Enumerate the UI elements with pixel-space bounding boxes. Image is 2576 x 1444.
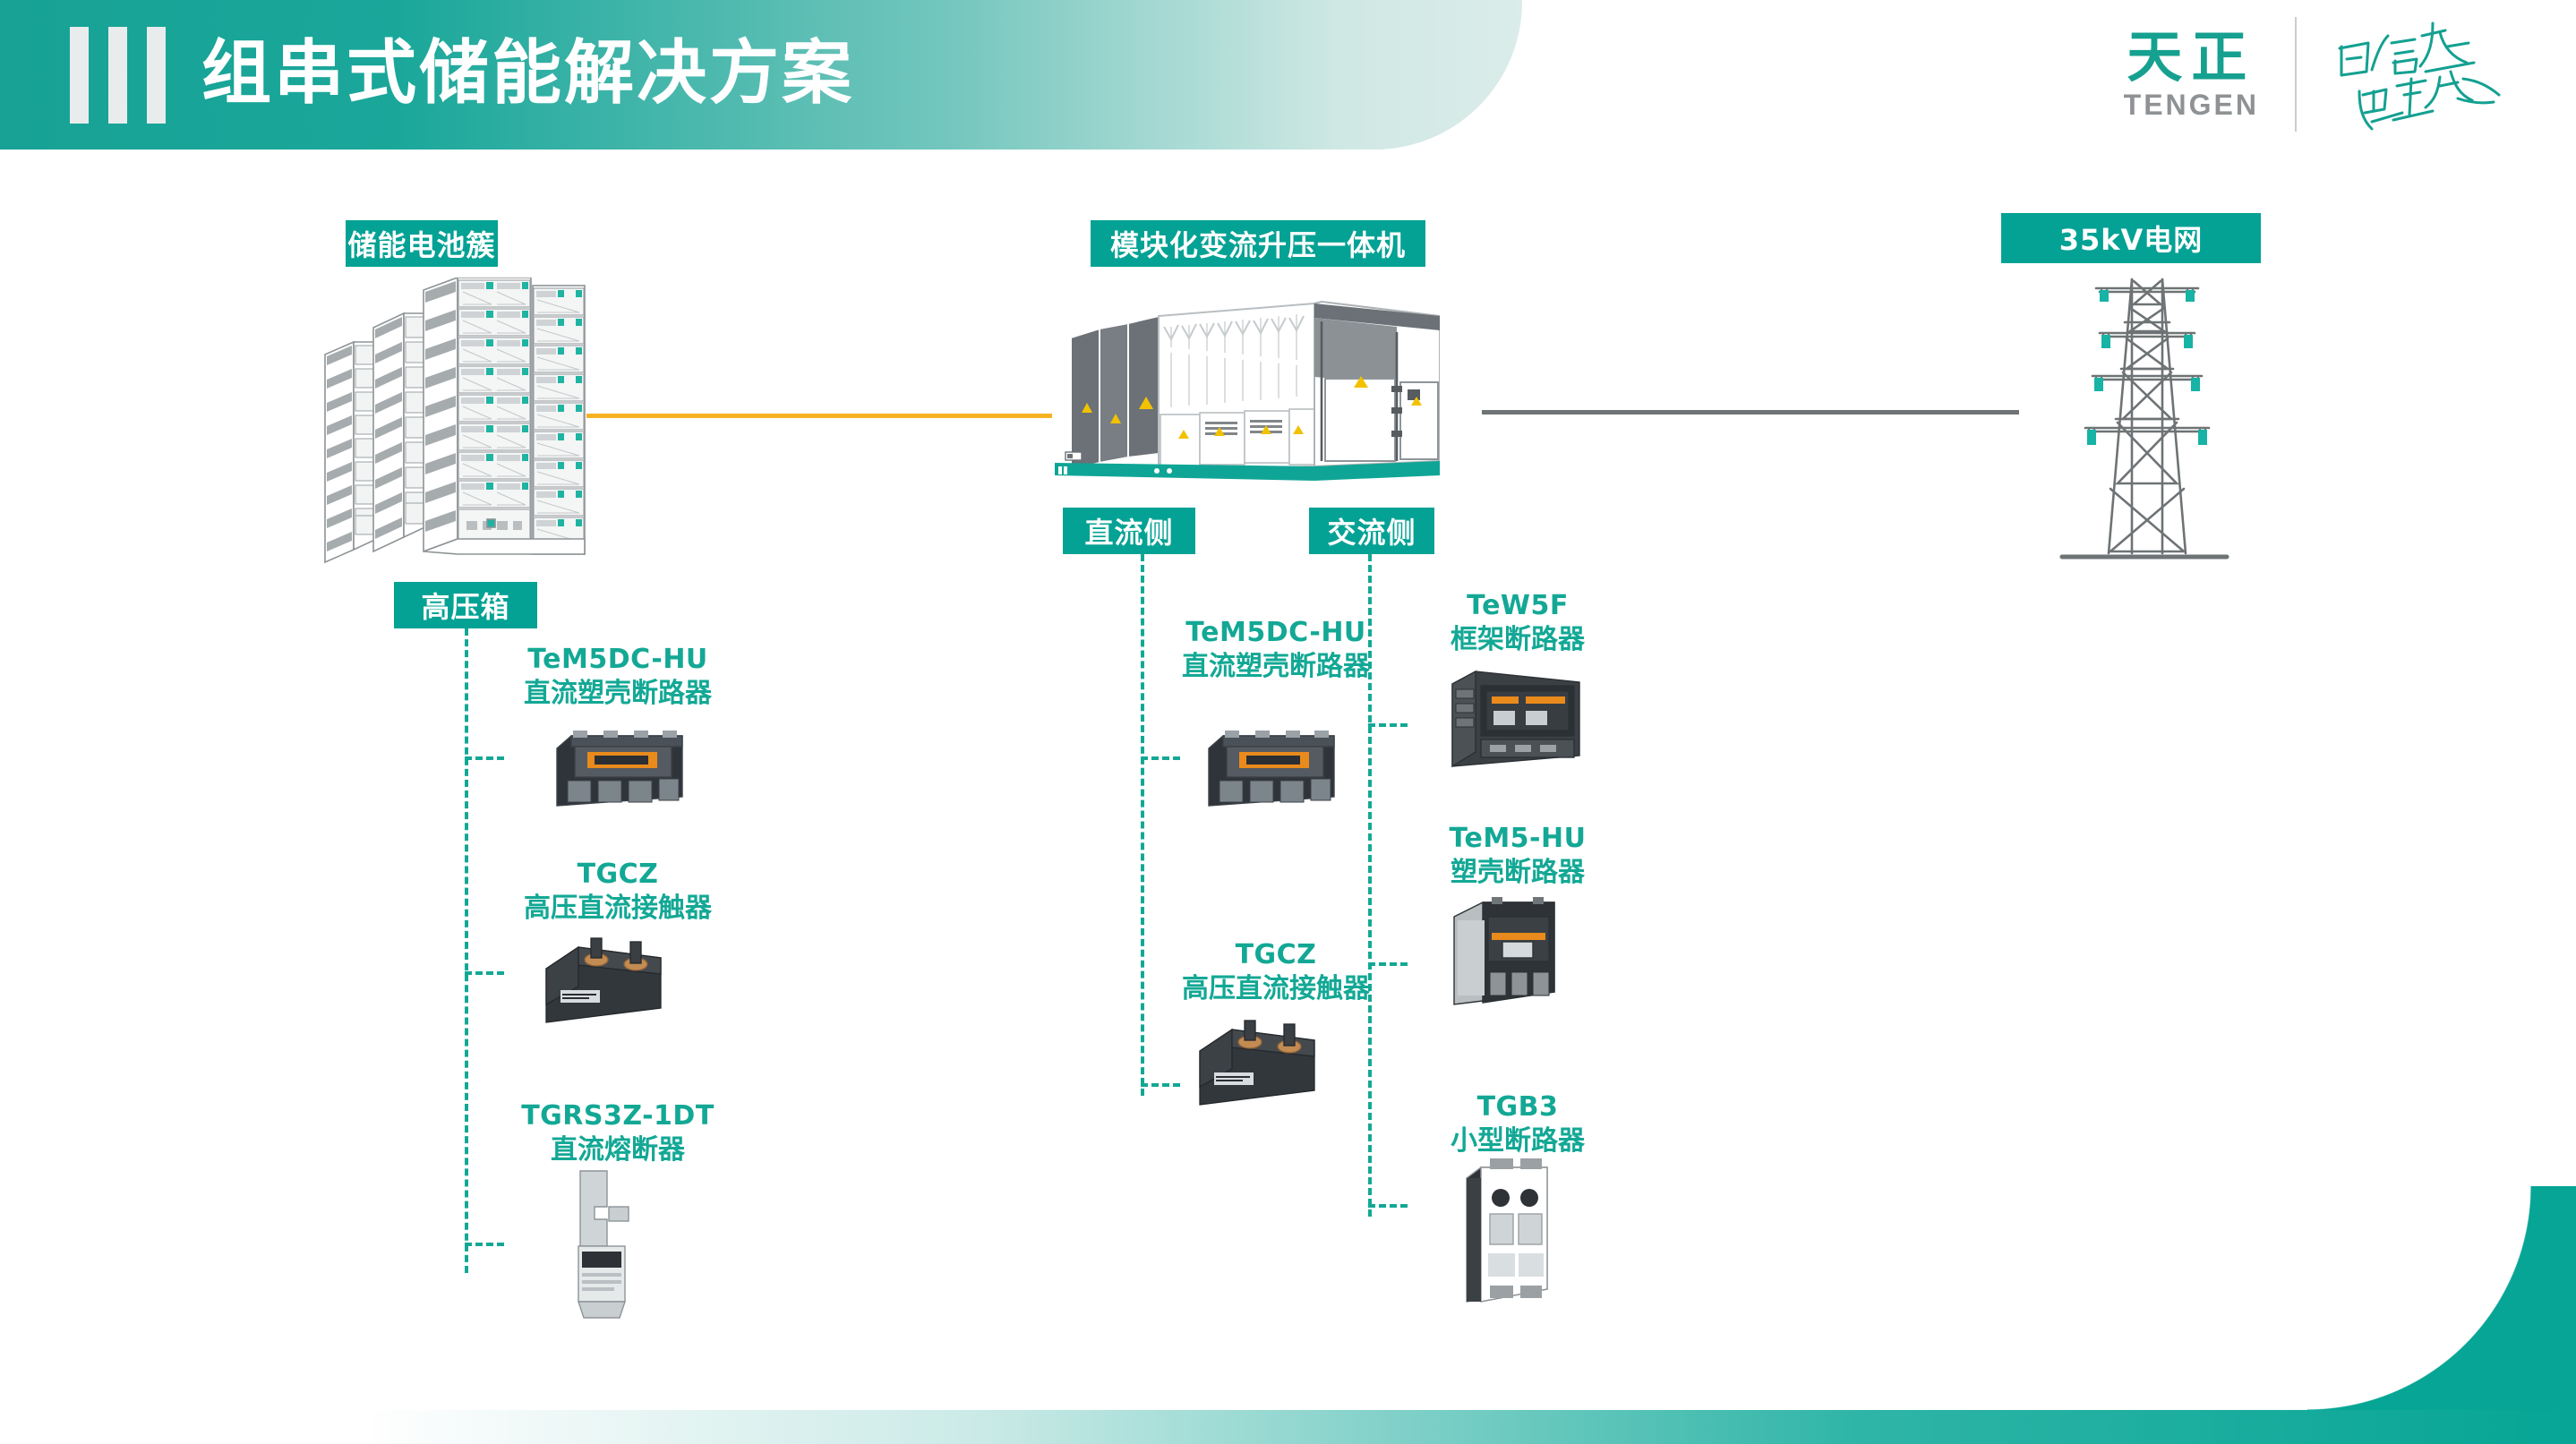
- connector-battery-item-1: [465, 756, 504, 760]
- svg-text:TG: TG: [1219, 354, 1226, 359]
- product-desc: 直流塑壳断路器: [1146, 650, 1406, 684]
- brand-slogan-calligraphy: [2332, 16, 2520, 132]
- chip-dc-side-label: 直流侧: [1084, 510, 1173, 551]
- svg-text:TG: TG: [1201, 352, 1208, 357]
- chip-pcs-label: 模块化变流升压一体机: [1110, 223, 1406, 264]
- connector-ac-item-2: [1368, 962, 1408, 966]
- connector-dc-trunk: [1141, 554, 1144, 1096]
- product-image-miniature-circuit-breaker: [1449, 1155, 1565, 1320]
- product-desc: 塑壳断路器: [1406, 856, 1630, 890]
- product-image-dc-fuse-1: [555, 1164, 654, 1329]
- three-bars-icon: [70, 27, 166, 124]
- svg-text:TG: TG: [1237, 355, 1244, 361]
- product-desc: 高压直流接触器: [1146, 972, 1406, 1006]
- product-model: TGB3: [1406, 1090, 1630, 1124]
- chip-grid: 35kV电网: [2001, 213, 2261, 263]
- brand-divider: [2295, 17, 2297, 132]
- battery-cluster-image: [318, 278, 595, 577]
- svg-text:TG: TG: [1290, 361, 1297, 366]
- connector-battery-item-3: [465, 1243, 504, 1246]
- product-model: TeM5DC-HU: [501, 643, 734, 677]
- chip-hv-box: 高压箱: [394, 582, 537, 628]
- connector-ac-trunk: [1368, 554, 1372, 1217]
- product-caption-dc-1: TeM5DC-HU 直流塑壳断路器: [1146, 616, 1406, 683]
- product-caption-ac-1: TeW5F 框架断路器: [1406, 589, 1630, 656]
- product-image-molded-case-circuit-breaker-dc-2: [1200, 716, 1343, 819]
- product-model: TGCZ: [501, 858, 734, 892]
- transmission-tower-image: [2010, 269, 2234, 568]
- tengen-logo: 天正 TENGEN: [2124, 28, 2259, 122]
- dc-bus-line: [586, 414, 1052, 418]
- pcs-container-image: TGTGTG TGTGTG TGTG: [1046, 300, 1440, 497]
- page-title: 组串式储能解决方案: [201, 20, 854, 127]
- product-model: TeW5F: [1406, 589, 1630, 623]
- product-caption-battery-1: TeM5DC-HU 直流塑壳断路器: [501, 643, 734, 710]
- connector-dc-item-1: [1141, 756, 1180, 760]
- product-desc: 框架断路器: [1406, 623, 1630, 657]
- svg-text:TG: TG: [1165, 348, 1172, 354]
- product-model: TeM5DC-HU: [1146, 616, 1406, 650]
- product-desc: 高压直流接触器: [501, 892, 734, 926]
- chip-dc-side: 直流侧: [1063, 508, 1195, 554]
- bottom-accent-bar: [0, 1410, 2576, 1444]
- chip-ac-side-label: 交流侧: [1327, 510, 1416, 551]
- product-desc: 直流塑壳断路器: [501, 677, 734, 711]
- product-image-hv-dc-contactor-2: [1180, 1004, 1323, 1121]
- product-caption-battery-2: TGCZ 高压直流接触器: [501, 858, 734, 925]
- product-model: TeM5-HU: [1406, 822, 1630, 856]
- chip-ac-side: 交流侧: [1309, 508, 1434, 554]
- product-desc: 直流熔断器: [501, 1133, 734, 1167]
- brand-name-cn: 天正: [2127, 28, 2255, 87]
- product-model: TGCZ: [1146, 938, 1406, 972]
- product-image-molded-case-circuit-breaker-dc-1: [548, 716, 691, 819]
- brand-name-en: TENGEN: [2124, 89, 2259, 122]
- connector-dc-item-2: [1141, 1083, 1180, 1087]
- chip-grid-label: 35kV电网: [2059, 218, 2204, 259]
- svg-text:TG: TG: [1254, 357, 1262, 363]
- product-image-molded-case-circuit-breaker: [1440, 886, 1565, 1016]
- product-caption-battery-3: TGRS3Z-1DT 直流熔断器: [501, 1099, 734, 1166]
- product-caption-ac-3: TGB3 小型断路器: [1406, 1090, 1630, 1158]
- connector-ac-item-1: [1368, 723, 1408, 727]
- product-desc: 小型断路器: [1406, 1124, 1630, 1158]
- product-caption-ac-2: TeM5-HU 塑壳断路器: [1406, 822, 1630, 889]
- connector-battery-item-2: [465, 971, 504, 975]
- svg-text:TG: TG: [1272, 359, 1279, 364]
- chip-hv-box-label: 高压箱: [421, 585, 509, 626]
- product-image-air-circuit-breaker: [1440, 662, 1583, 783]
- brand-logo-group: 天正 TENGEN: [2124, 16, 2520, 132]
- chip-pcs: 模块化变流升压一体机: [1091, 220, 1425, 267]
- connector-battery-trunk: [465, 628, 468, 1273]
- product-model: TGRS3Z-1DT: [501, 1099, 734, 1133]
- product-image-hv-dc-contactor-1: [526, 922, 670, 1038]
- corner-decoration: [2307, 1186, 2576, 1410]
- connector-ac-item-3: [1368, 1204, 1408, 1208]
- svg-text:TG: TG: [1183, 350, 1190, 355]
- chip-battery-cluster-label: 储能电池簇: [347, 223, 495, 264]
- page-header: 组串式储能解决方案: [0, 0, 1522, 150]
- chip-battery-cluster: 储能电池簇: [346, 220, 498, 267]
- product-caption-dc-2: TGCZ 高压直流接触器: [1146, 938, 1406, 1005]
- ac-bus-line: [1482, 410, 2019, 414]
